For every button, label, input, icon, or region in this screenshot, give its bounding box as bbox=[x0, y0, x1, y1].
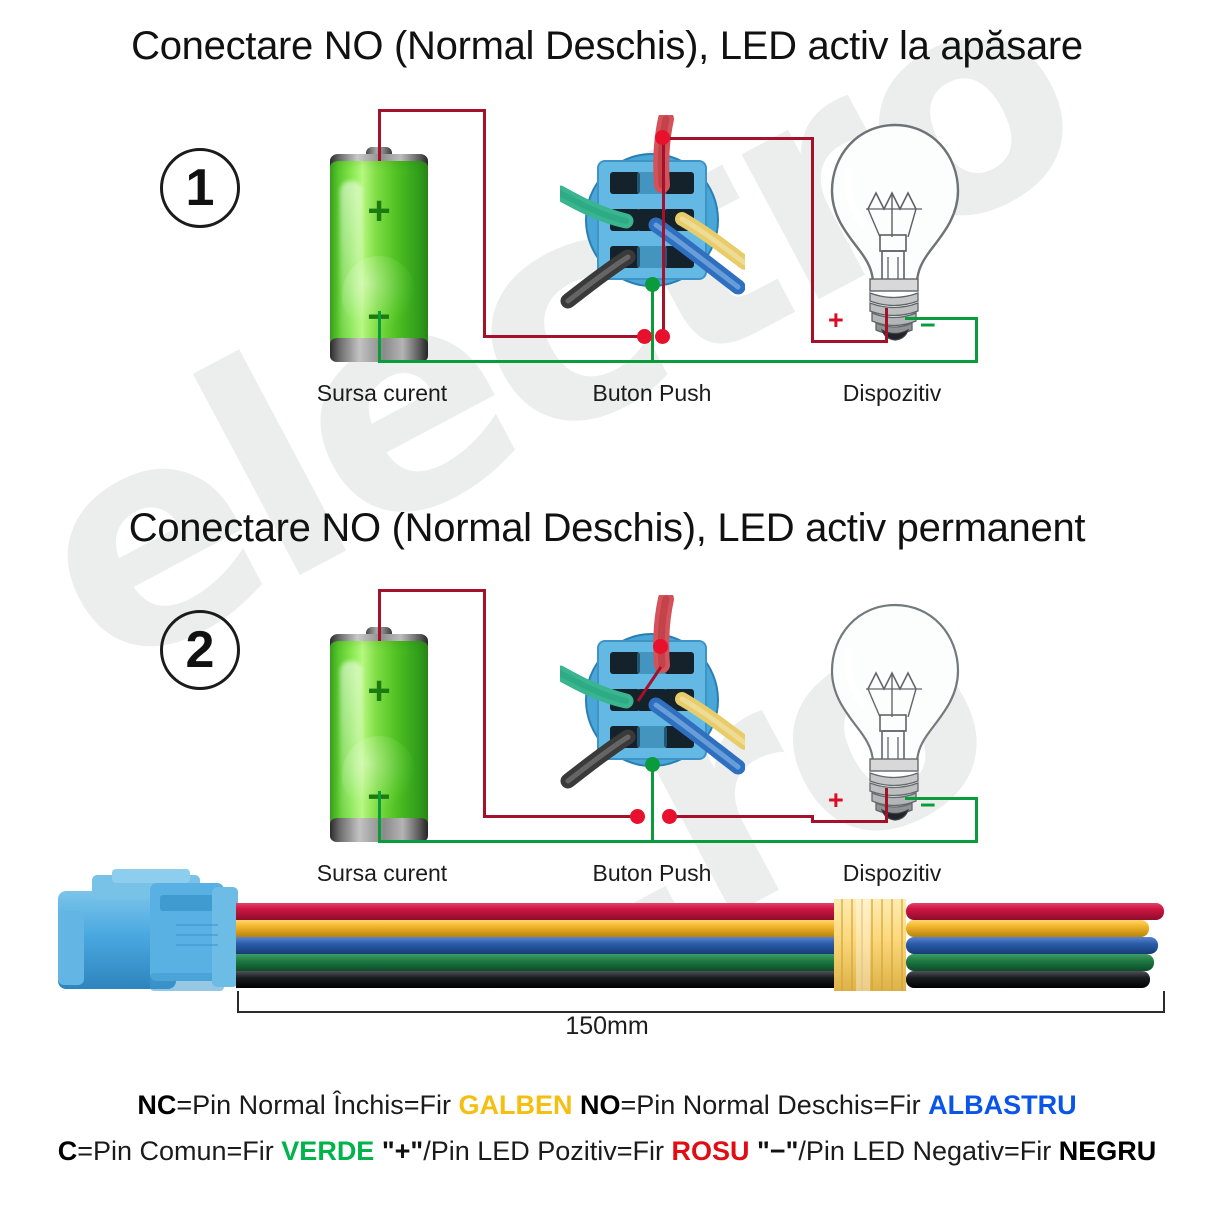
green2-line-bulb-minus-horiz bbox=[905, 797, 978, 800]
green-line-ground-rail bbox=[378, 360, 978, 363]
legend2-run-8: NEGRU bbox=[1059, 1136, 1157, 1166]
battery-plus-symbol: + bbox=[330, 191, 428, 231]
legend2-run-6: "−" bbox=[750, 1136, 799, 1166]
red2-line-bulb-base-up bbox=[885, 788, 888, 823]
red2-line-bat-top-vert bbox=[378, 589, 381, 641]
wiring-diagram-1: + − bbox=[0, 95, 1214, 425]
legend2-run-1: =Pin Comun=Fir bbox=[77, 1136, 281, 1166]
node2-red-switch-no bbox=[662, 809, 677, 824]
legend1-run-6: ALBASTRU bbox=[928, 1090, 1077, 1120]
legend1-run-1: =Pin Normal Închis=Fir bbox=[176, 1090, 458, 1120]
legend1-run-0: NC bbox=[137, 1090, 176, 1120]
measurement-bracket bbox=[238, 991, 1164, 1013]
red-line-bulb-plus-horiz bbox=[811, 340, 888, 343]
legend1-run-4: NO bbox=[580, 1090, 621, 1120]
step-badge-2: 2 bbox=[160, 610, 240, 690]
red2-line-bulb-plus-horiz bbox=[811, 820, 888, 823]
harness-connector bbox=[58, 869, 238, 991]
legend-line-1: NC=Pin Normal Închis=Fir GALBEN NO=Pin N… bbox=[0, 1090, 1214, 1121]
legend2-run-7: /Pin LED Negativ=Fir bbox=[798, 1136, 1058, 1166]
legend-line-2: C=Pin Comun=Fir VERDE "+"/Pin LED Poziti… bbox=[0, 1136, 1214, 1167]
bulb-minus-symbol: − bbox=[920, 312, 936, 339]
legend1-run-3 bbox=[572, 1090, 580, 1120]
node-red-led-positive bbox=[655, 130, 670, 145]
harness-wires-left bbox=[236, 903, 834, 988]
legend1-run-5: =Pin Normal Deschis=Fir bbox=[621, 1090, 929, 1120]
node2-red-common bbox=[630, 809, 645, 824]
legend2-run-5: ROSU bbox=[672, 1136, 750, 1166]
node-red-switch-no bbox=[655, 329, 670, 344]
red-line-to-switch-common bbox=[483, 335, 643, 338]
bulb-minus-symbol-2: − bbox=[920, 792, 936, 819]
section-1-title: Conectare NO (Normal Deschis), LED activ… bbox=[0, 24, 1214, 69]
green-line-bulb-minus-vert bbox=[975, 317, 978, 363]
bulb-plus-symbol: + bbox=[828, 307, 844, 334]
caption-switch-1: Buton Push bbox=[532, 380, 772, 407]
green2-line-ground-rail bbox=[378, 840, 978, 843]
red-line-bat-down bbox=[483, 109, 486, 337]
green-line-bulb-minus-horiz bbox=[905, 317, 978, 320]
step-badge-1: 1 bbox=[160, 148, 240, 228]
node2-red-led-positive bbox=[653, 639, 668, 654]
caption-source-1: Sursa curent bbox=[262, 380, 502, 407]
green-line-bat-minus-vert bbox=[378, 311, 381, 363]
legend2-run-4: /Pin LED Pozitiv=Fir bbox=[423, 1136, 671, 1166]
red-line-switch-no-vert bbox=[662, 137, 665, 337]
caption-device-1: Dispozitiv bbox=[772, 380, 1012, 407]
bulb-plus-symbol-2: + bbox=[828, 787, 844, 814]
green2-line-switch-gnd-vert bbox=[651, 763, 654, 843]
green-line-switch-gnd-vert bbox=[651, 283, 654, 363]
diagram-page: electro .ro Conectare NO (Normal Deschis… bbox=[0, 0, 1214, 1214]
green2-line-bat-minus-vert bbox=[378, 791, 381, 843]
section-2-title: Conectare NO (Normal Deschis), LED activ… bbox=[0, 506, 1214, 551]
red-line-bulb-base-up bbox=[885, 308, 888, 343]
red2-line-no-horiz bbox=[669, 815, 814, 818]
legend2-run-2: VERDE bbox=[281, 1136, 374, 1166]
harness-cable-ties bbox=[834, 899, 906, 991]
red2-line-bat-top-horiz bbox=[378, 589, 486, 592]
harness-wires-right bbox=[906, 903, 1164, 988]
red2-line-bat-down bbox=[483, 589, 486, 817]
red-line-switch-top-horiz bbox=[662, 137, 814, 140]
legend2-run-3: "+" bbox=[374, 1136, 423, 1166]
legend2-run-0: C bbox=[58, 1136, 78, 1166]
red-line-bulb-down bbox=[811, 137, 814, 343]
harness-measurement-label: 150mm bbox=[0, 1012, 1214, 1041]
green2-line-bulb-minus-vert bbox=[975, 797, 978, 843]
node-green-led-negative bbox=[645, 277, 660, 292]
red-line-bat-top-horiz bbox=[378, 109, 486, 112]
legend1-run-2: GALBEN bbox=[458, 1090, 572, 1120]
red-line-bat-top-vert bbox=[378, 109, 381, 161]
red2-line-to-common bbox=[483, 815, 643, 818]
node-red-common bbox=[637, 329, 652, 344]
node2-green-led-negative bbox=[645, 757, 660, 772]
battery-plus-symbol-2: + bbox=[330, 671, 428, 711]
